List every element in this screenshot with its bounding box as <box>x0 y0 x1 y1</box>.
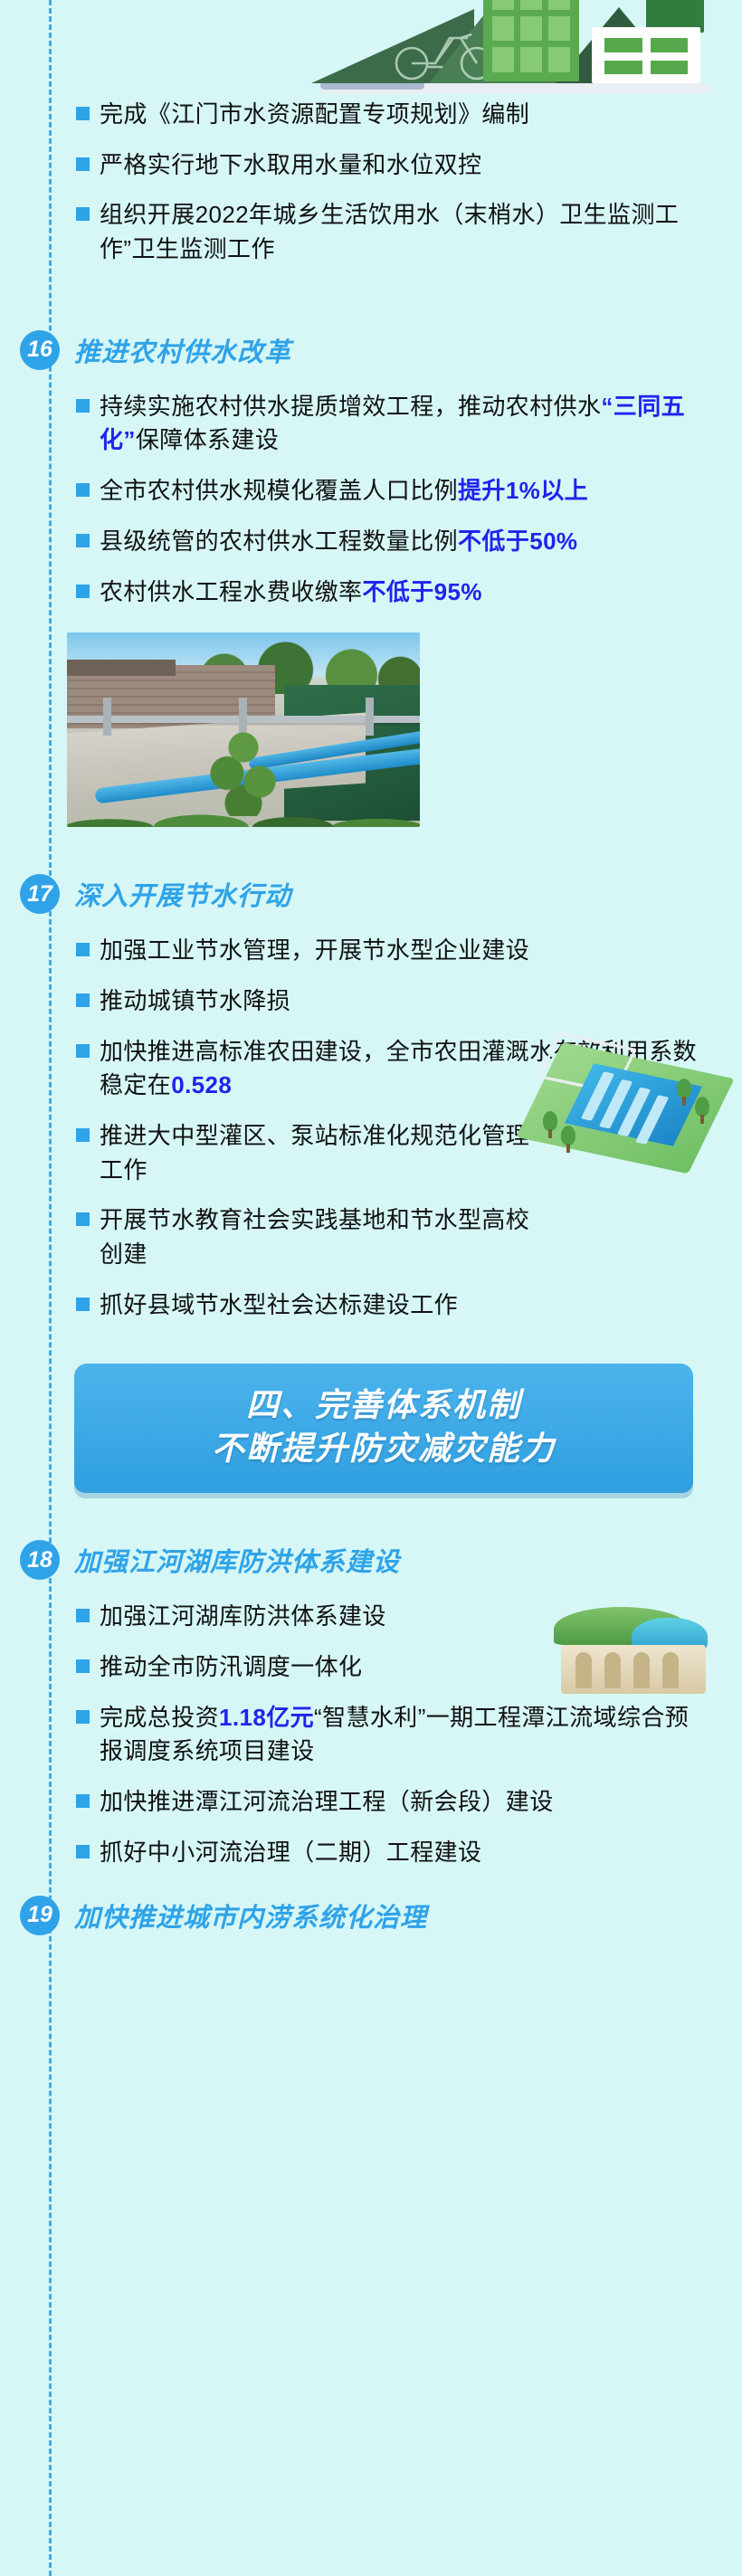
tree-icon <box>561 1126 576 1153</box>
bullet-square-icon <box>76 1710 90 1724</box>
bullet-text: 推动全市防汛调度一体化 <box>100 1650 362 1685</box>
bullet-text: 持续实施农村供水提质增效工程，推动农村供水“三同五化”保障体系建设 <box>100 390 711 458</box>
bullet-text: 农村供水工程水费收缴率不低于95% <box>100 575 482 610</box>
bullet-text: 组织开展2022年城乡生活饮用水（末梢水）卫生监测工作”卫生监测工作 <box>100 198 711 266</box>
list-item: 抓好中小河流治理（二期）工程建设 <box>0 1836 742 1870</box>
highlighted-text: 1.18亿元 <box>219 1704 314 1731</box>
section-title: 推进农村供水改革 <box>74 331 291 369</box>
bullet-text: 加强江河湖库防洪体系建设 <box>100 1600 386 1634</box>
town-hills-illustration <box>49 0 742 98</box>
top-bullet-list: 完成《江门市水资源配置专项规划》编制 严格实行地下水取用水量和水位双控 组织开展… <box>0 98 742 267</box>
bullet-text: 完成《江门市水资源配置专项规划》编制 <box>100 98 529 132</box>
section-heading-19: 19 加快推进城市内涝系统化治理 <box>0 1896 742 1935</box>
section-heading-17: 17 深入开展节水行动 <box>0 874 742 914</box>
highlighted-text: 提升1%以上 <box>458 477 588 504</box>
bullet-square-icon <box>76 1609 90 1622</box>
plain-text: 保障体系建设 <box>136 426 279 453</box>
bullet-text: 完成总投资1.18亿元“智慧水利”一期工程潭江流域综合预报调度系统项目建设 <box>100 1701 711 1769</box>
photo-roof <box>67 660 176 676</box>
section-number-badge: 18 <box>20 1540 60 1580</box>
photo-bush <box>203 730 284 816</box>
bullet-square-icon <box>76 107 90 120</box>
highlighted-text: 不低于50% <box>458 528 577 555</box>
dam-reservoir-illustration <box>554 1603 717 1703</box>
bullet-square-icon <box>76 1794 90 1808</box>
section-title: 加快推进城市内涝系统化治理 <box>74 1896 427 1934</box>
rural-water-supply-photo <box>67 632 420 827</box>
bullet-square-icon <box>76 399 90 413</box>
list-item: 推动城镇节水降损 <box>0 984 742 1019</box>
list-item: 组织开展2022年城乡生活饮用水（末梢水）卫生监测工作”卫生监测工作 <box>0 198 742 266</box>
infographic-page: 完成《江门市水资源配置专项规划》编制 严格实行地下水取用水量和水位双控 组织开展… <box>0 0 742 2576</box>
plain-text: 推动城镇节水降损 <box>100 987 290 1014</box>
bullet-square-icon <box>76 534 90 547</box>
photo-rail-post <box>103 698 111 736</box>
section-number-badge: 16 <box>20 330 60 370</box>
bullet-square-icon <box>76 993 90 1007</box>
irrigation-station-illustration <box>530 1024 720 1169</box>
section-number-badge: 19 <box>20 1896 60 1935</box>
bullet-text: 抓好县域节水型社会达标建设工作 <box>100 1288 458 1323</box>
bullet-text: 开展节水教育社会实践基地和节水型高校创建 <box>100 1203 547 1271</box>
bullet-square-icon <box>76 585 90 598</box>
chapter-banner: 四、完善体系机制 不断提升防灾减灾能力 <box>74 1364 693 1493</box>
plain-text: 抓好中小河流治理（二期）工程建设 <box>100 1839 481 1866</box>
plain-text: 全市农村供水规模化覆盖人口比例 <box>100 477 458 504</box>
plain-text: 推进大中型灌区、泵站标准化规范化管理工作 <box>100 1122 529 1183</box>
content-column: 完成《江门市水资源配置专项规划》编制 严格实行地下水取用水量和水位双控 组织开展… <box>0 0 742 1935</box>
bullet-square-icon <box>76 1845 90 1858</box>
section-heading-16: 16 推进农村供水改革 <box>0 330 742 370</box>
bullet-square-icon <box>76 1128 90 1142</box>
section-16-bullet-list: 持续实施农村供水提质增效工程，推动农村供水“三同五化”保障体系建设 全市农村供水… <box>0 390 742 609</box>
bullet-text: 抓好中小河流治理（二期）工程建设 <box>100 1836 481 1870</box>
plain-text: 加强工业节水管理，开展节水型企业建设 <box>100 936 529 964</box>
section-title: 加强江河湖库防洪体系建设 <box>74 1541 400 1579</box>
plain-text: 抓好县域节水型社会达标建设工作 <box>100 1291 458 1318</box>
tree-icon <box>543 1111 557 1138</box>
building-icon <box>592 27 700 83</box>
section-heading-18: 18 加强江河湖库防洪体系建设 <box>0 1540 742 1580</box>
bullet-text: 加强工业节水管理，开展节水型企业建设 <box>100 934 529 968</box>
list-item: 完成《江门市水资源配置专项规划》编制 <box>0 98 742 132</box>
bullet-square-icon <box>76 1298 90 1311</box>
bullet-square-icon <box>76 483 90 497</box>
bullet-text: 加快推进潭江河流治理工程（新会段）建设 <box>100 1785 554 1820</box>
plain-text: 加强江河湖库防洪体系建设 <box>100 1602 386 1630</box>
bullet-square-icon <box>76 157 90 171</box>
list-item: 加快推进潭江河流治理工程（新会段）建设 <box>0 1785 742 1820</box>
section-number-badge: 17 <box>20 874 60 914</box>
list-item: 加强工业节水管理，开展节水型企业建设 <box>0 934 742 968</box>
plain-text: 开展节水教育社会实践基地和节水型高校创建 <box>100 1206 529 1268</box>
plain-text: 县级统管的农村供水工程数量比例 <box>100 528 458 555</box>
list-item: 县级统管的农村供水工程数量比例不低于50% <box>0 525 742 559</box>
bullet-square-icon <box>76 207 90 221</box>
list-item: 持续实施农村供水提质增效工程，推动农村供水“三同五化”保障体系建设 <box>0 390 742 458</box>
list-item: 抓好县域节水型社会达标建设工作 <box>0 1288 742 1323</box>
bullet-text: 县级统管的农村供水工程数量比例不低于50% <box>100 525 577 559</box>
bullet-square-icon <box>76 1044 90 1058</box>
bullet-text: 推进大中型灌区、泵站标准化规范化管理工作 <box>100 1119 547 1187</box>
highlighted-text: 不低于95% <box>362 578 481 605</box>
plain-text: 完成总投资 <box>100 1704 219 1731</box>
dam-wall-shape <box>561 1645 706 1694</box>
bullet-square-icon <box>76 943 90 956</box>
list-item: 全市农村供水规模化覆盖人口比例提升1%以上 <box>0 474 742 509</box>
bullet-square-icon <box>76 1212 90 1226</box>
section-title: 深入开展节水行动 <box>74 875 291 913</box>
bullet-square-icon <box>76 1659 90 1673</box>
tree-icon <box>677 1079 691 1106</box>
plain-text: 推动全市防汛调度一体化 <box>100 1653 362 1680</box>
photo-rail-post <box>366 698 374 736</box>
tree-icon <box>695 1097 709 1124</box>
bullet-text: 推动城镇节水降损 <box>100 984 290 1019</box>
plain-text: 加快推进潭江河流治理工程（新会段）建设 <box>100 1788 554 1815</box>
building-icon <box>483 0 579 81</box>
bullet-text: 全市农村供水规模化覆盖人口比例提升1%以上 <box>100 474 588 509</box>
list-item: 农村供水工程水费收缴率不低于95% <box>0 575 742 610</box>
list-item: 完成总投资1.18亿元“智慧水利”一期工程潭江流域综合预报调度系统项目建设 <box>0 1701 742 1769</box>
bullet-text: 严格实行地下水取用水量和水位双控 <box>100 148 481 183</box>
banner-line-2: 不断提升防灾减灾能力 <box>83 1427 684 1470</box>
list-item: 严格实行地下水取用水量和水位双控 <box>0 148 742 183</box>
plain-text: 农村供水工程水费收缴率 <box>100 578 362 605</box>
list-item: 开展节水教育社会实践基地和节水型高校创建 <box>0 1203 742 1271</box>
banner-line-1: 四、完善体系机制 <box>83 1383 684 1427</box>
plain-text: 持续实施农村供水提质增效工程，推动农村供水 <box>100 393 601 420</box>
highlighted-text: 0.528 <box>171 1071 232 1098</box>
